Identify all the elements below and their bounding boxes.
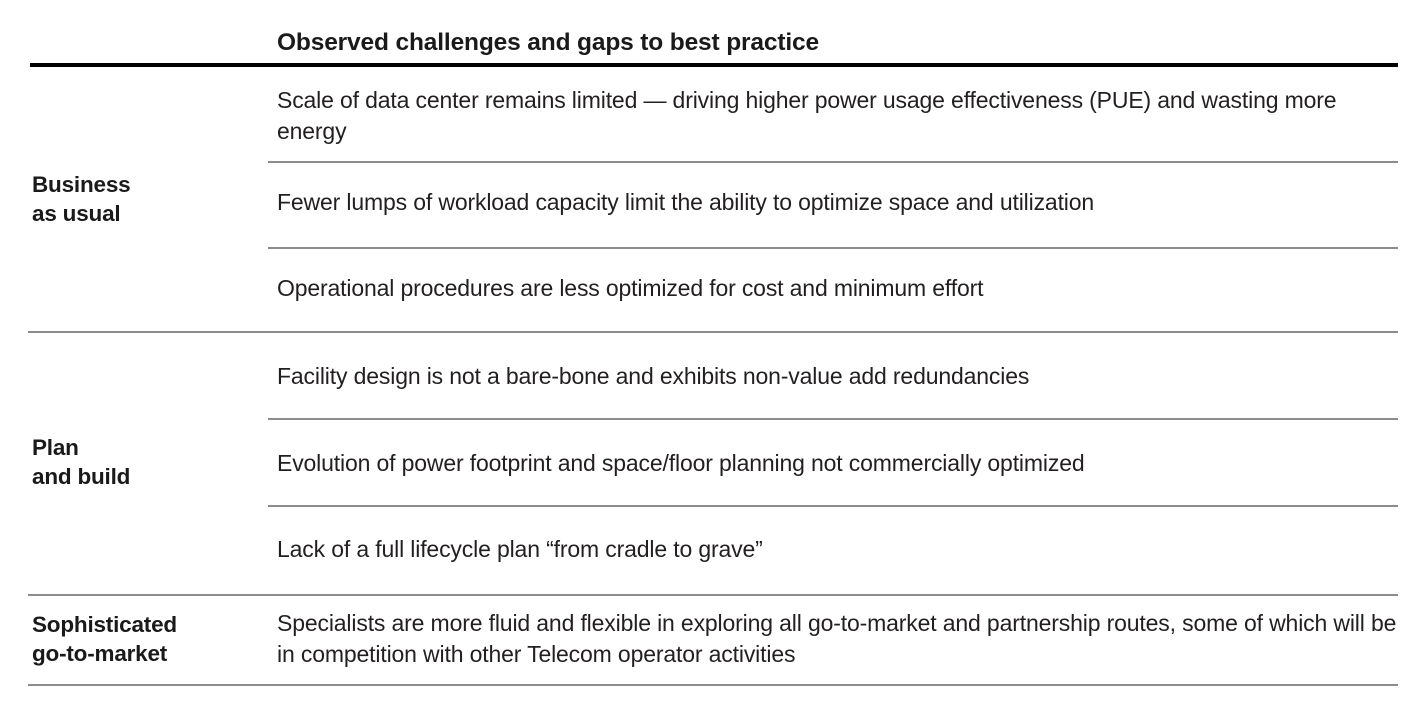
table-bottom-divider (28, 684, 1398, 686)
table-row: Specialists are more fluid and flexible … (277, 608, 1398, 670)
section-label-line-2: go-to-market (32, 639, 268, 668)
section-label-line-2: and build (32, 462, 268, 491)
section-label-plan-and-build: Plan and build (32, 433, 268, 491)
section-sophisticated-go-to-market: Sophisticated go-to-market Specialists a… (0, 596, 1426, 684)
table-row: Operational procedures are less optimize… (277, 273, 1398, 304)
section-label-line-1: Business (32, 170, 268, 199)
section-label-line-1: Plan (32, 433, 268, 462)
table-row: Evolution of power footprint and space/f… (277, 448, 1398, 479)
table-row: Fewer lumps of workload capacity limit t… (277, 187, 1398, 218)
table-header-row: Observed challenges and gaps to best pra… (0, 0, 1426, 65)
table-row: Facility design is not a bare-bone and e… (277, 361, 1398, 392)
section-label-line-2: as usual (32, 199, 268, 228)
section-label-sophisticated-go-to-market: Sophisticated go-to-market (32, 610, 268, 668)
section-plan-and-build: Plan and build Facility design is not a … (0, 333, 1426, 594)
section-label-line-1: Sophisticated (32, 610, 268, 639)
section-label-business-as-usual: Business as usual (32, 170, 268, 228)
row-divider (268, 418, 1398, 420)
row-divider (268, 247, 1398, 249)
table-row: Lack of a full lifecycle plan “from crad… (277, 534, 1398, 565)
row-divider (268, 505, 1398, 507)
challenges-table: Observed challenges and gaps to best pra… (0, 0, 1426, 65)
section-business-as-usual: Business as usual Scale of data center r… (0, 67, 1426, 331)
table-figure: Observed challenges and gaps to best pra… (0, 0, 1426, 706)
table-row: Scale of data center remains limited — d… (277, 85, 1398, 147)
column-header-observed-challenges: Observed challenges and gaps to best pra… (277, 29, 819, 57)
row-divider (268, 161, 1398, 163)
